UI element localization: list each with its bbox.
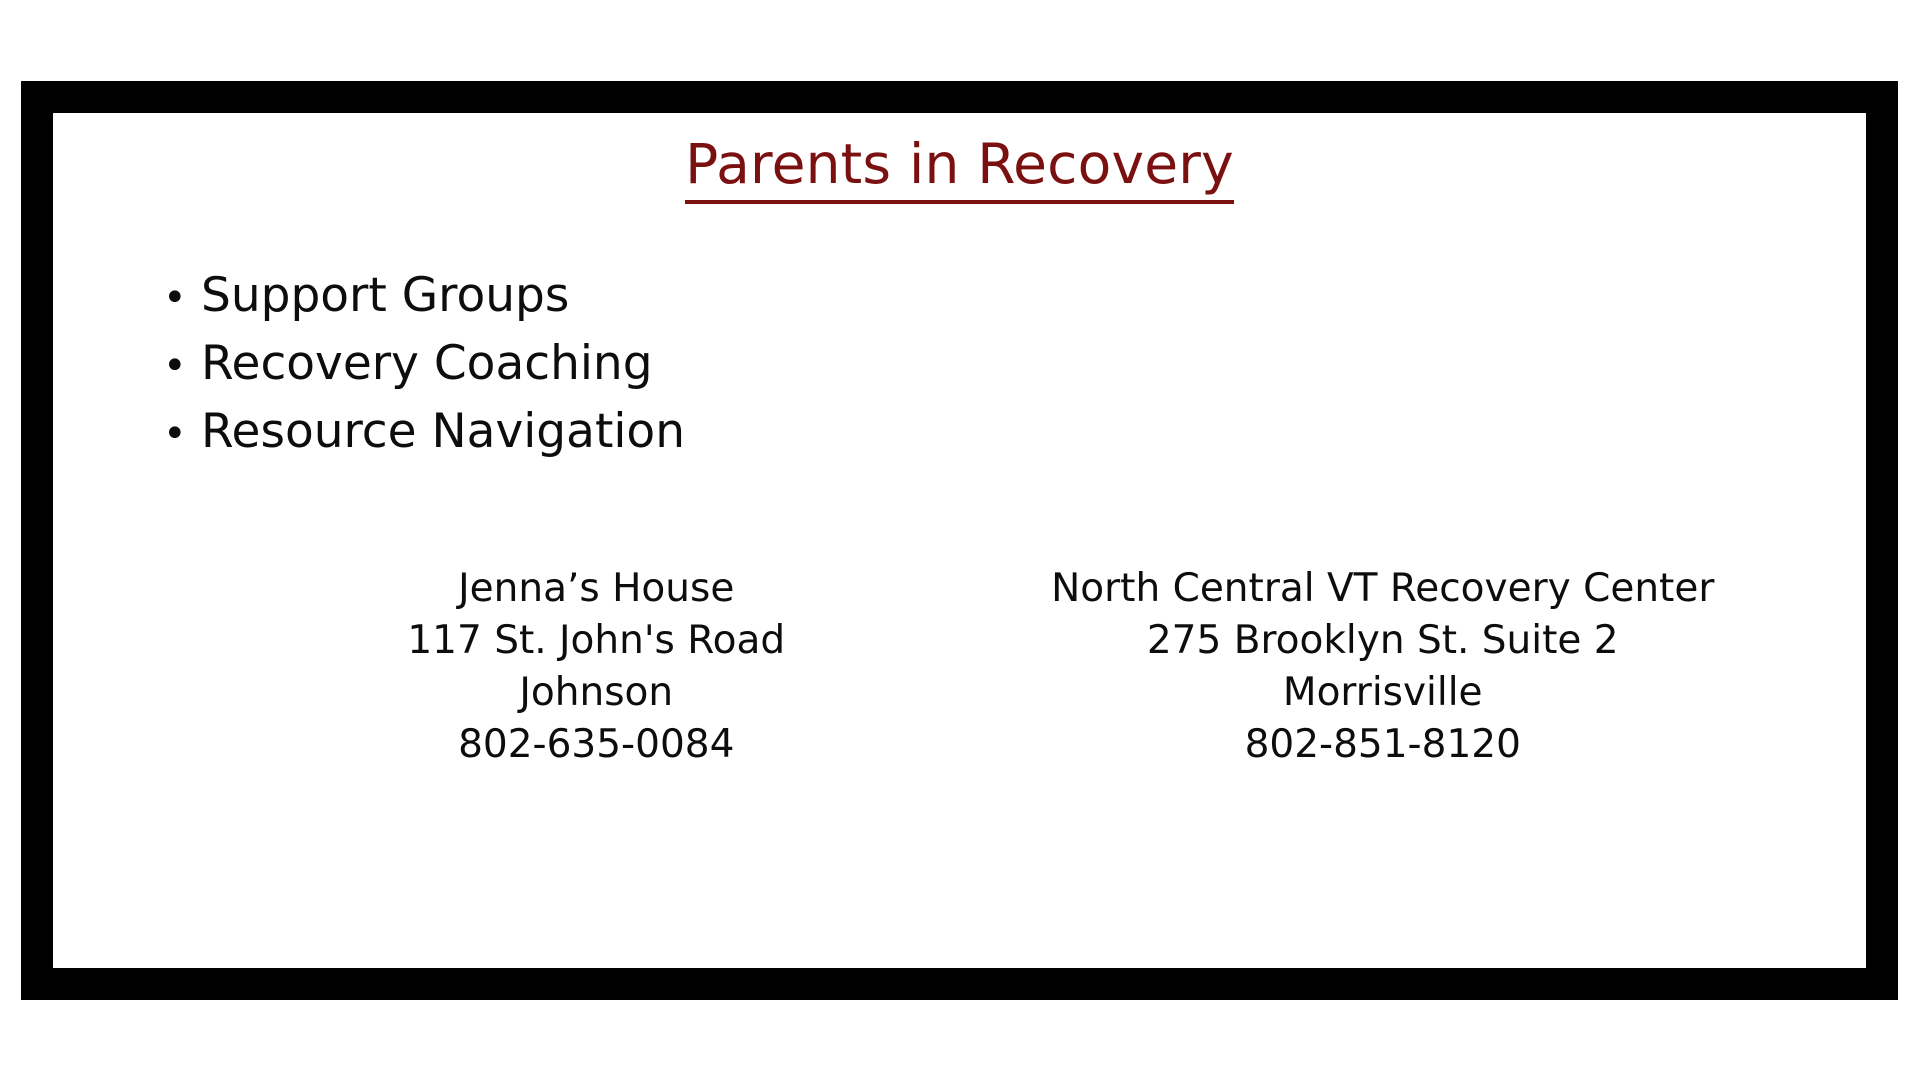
bullet-point-icon: • xyxy=(163,333,201,399)
contact-phone-number: 802-851-8120 xyxy=(990,719,1777,771)
bullet-item-label: Resource Navigation xyxy=(201,399,685,465)
contact-street-address: 117 St. John's Road xyxy=(203,615,990,667)
contact-block-north-central-vt: North Central VT Recovery Center 275 Bro… xyxy=(990,563,1777,771)
contact-street-address: 275 Brooklyn St. Suite 2 xyxy=(990,615,1777,667)
contact-org-name: North Central VT Recovery Center xyxy=(990,563,1777,615)
bullet-item-label: Recovery Coaching xyxy=(201,331,653,397)
list-item: • Recovery Coaching xyxy=(163,331,685,399)
slide-title: Parents in Recovery xyxy=(53,133,1866,204)
contact-org-name: Jenna’s House xyxy=(203,563,990,615)
slide-content-area: Parents in Recovery • Support Groups • R… xyxy=(53,113,1866,968)
slide-frame-border: Parents in Recovery • Support Groups • R… xyxy=(21,81,1898,1000)
contact-columns: Jenna’s House 117 St. John's Road Johnso… xyxy=(203,563,1776,771)
list-item: • Resource Navigation xyxy=(163,399,685,467)
contact-city: Johnson xyxy=(203,667,990,719)
contact-block-jennas-house: Jenna’s House 117 St. John's Road Johnso… xyxy=(203,563,990,771)
bullet-item-label: Support Groups xyxy=(201,263,569,329)
bullet-point-icon: • xyxy=(163,401,201,467)
slide-canvas: Parents in Recovery • Support Groups • R… xyxy=(0,0,1920,1080)
services-bullet-list: • Support Groups • Recovery Coaching • R… xyxy=(163,263,685,467)
list-item: • Support Groups xyxy=(163,263,685,331)
bullet-point-icon: • xyxy=(163,265,201,331)
contact-phone-number: 802-635-0084 xyxy=(203,719,990,771)
slide-title-text: Parents in Recovery xyxy=(685,133,1234,204)
contact-city: Morrisville xyxy=(990,667,1777,719)
